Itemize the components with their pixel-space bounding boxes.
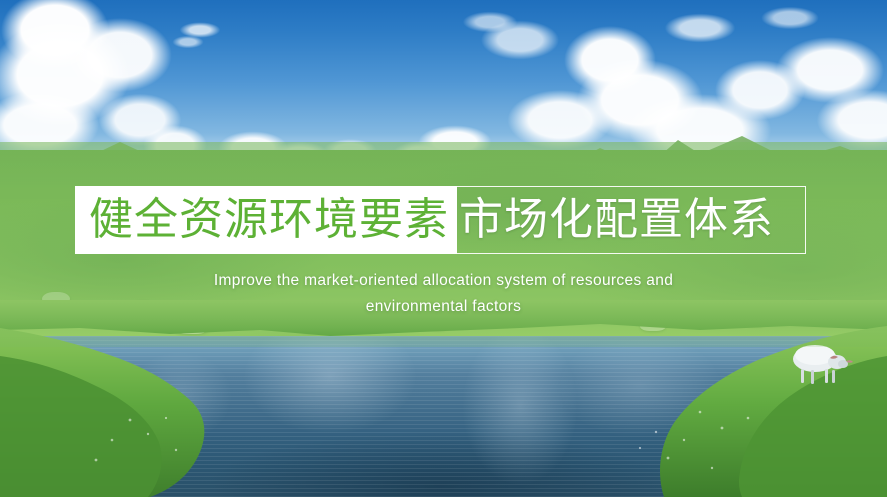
subtitle-line-1: Improve the market-oriented allocation s…	[0, 268, 887, 294]
subtitle-block: Improve the market-oriented allocation s…	[0, 268, 887, 320]
title-primary-text: 健全资源环境要素	[89, 198, 449, 242]
title-block: 健全资源环境要素 市场化配置体系	[75, 186, 806, 254]
title-secondary-text: 市场化配置体系	[459, 198, 774, 242]
title-outlined-panel: 市场化配置体系	[457, 186, 806, 254]
title-white-panel: 健全资源环境要素	[75, 186, 457, 254]
sheep-icon	[785, 341, 855, 387]
subtitle-line-2: environmental factors	[0, 294, 887, 320]
presentation-cover-slide: 健全资源环境要素 市场化配置体系 Improve the market-orie…	[0, 0, 887, 497]
